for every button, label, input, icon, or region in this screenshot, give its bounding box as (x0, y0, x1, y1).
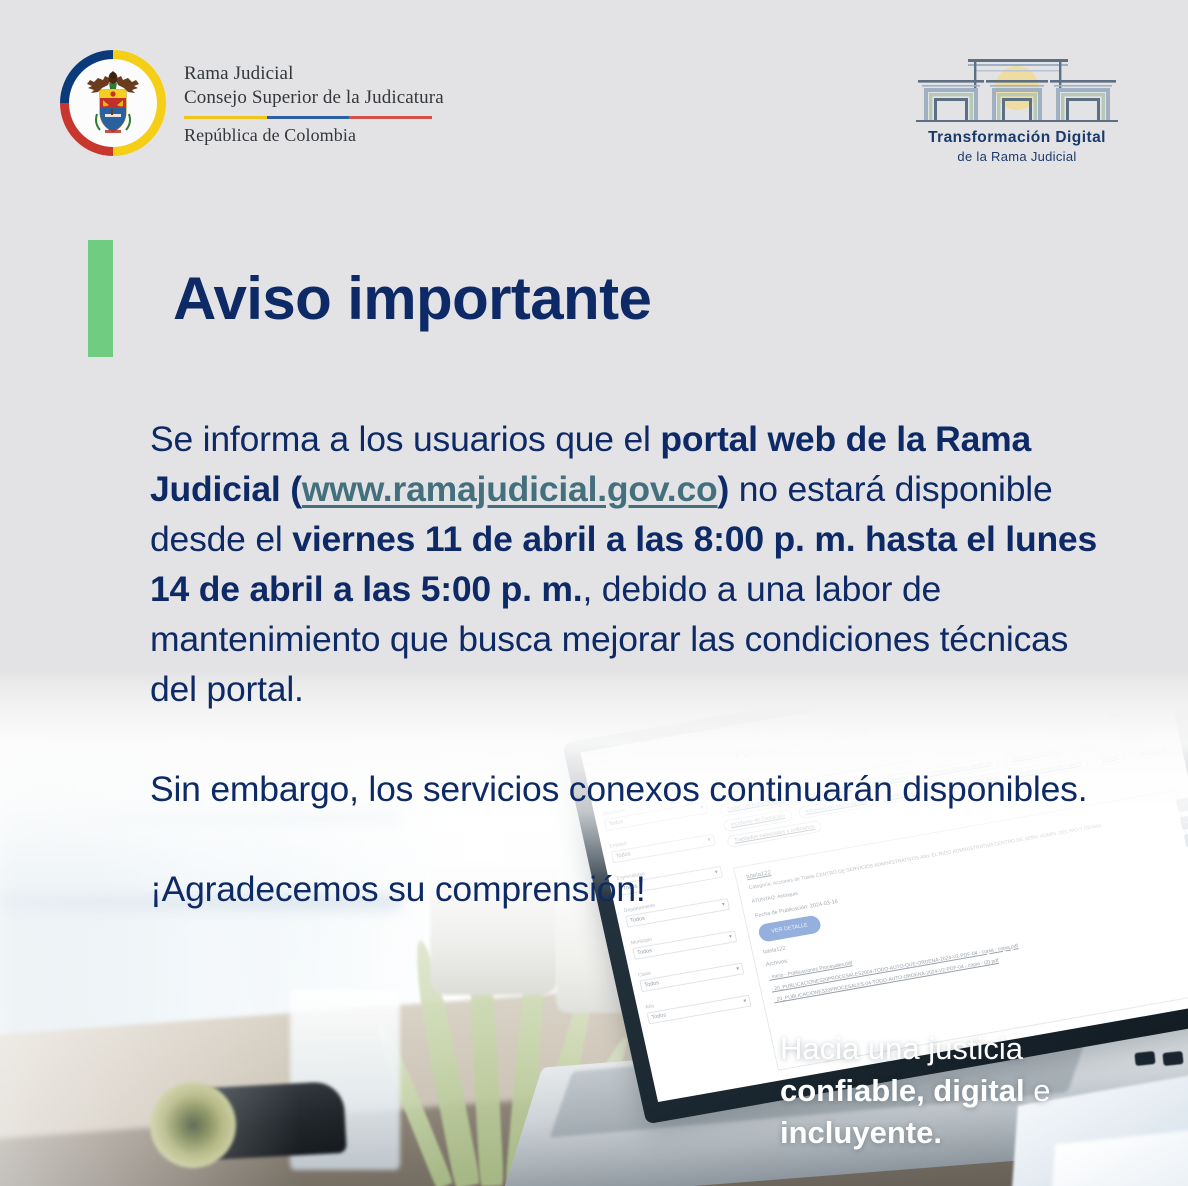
courthouse-building-icon (910, 48, 1124, 128)
brand-line-2: Consejo Superior de la Judicatura (184, 86, 444, 110)
tagline: Hacia una justicia confiable, digital e … (780, 1028, 1100, 1154)
td-line-2: de la Rama Judicial (910, 149, 1124, 164)
rama-judicial-wordmark: Rama Judicial Consejo Superior de la Jud… (184, 60, 444, 146)
screen-filter[interactable]: MunicipioTodos▾ (630, 922, 737, 960)
transformacion-digital-logo: Transformación Digital de la Rama Judici… (910, 48, 1124, 164)
paragraph-3: ¡Agradecemos su comprensión! (150, 864, 1110, 914)
tagline-line-3: incluyente. (780, 1112, 1100, 1154)
paragraph-1: Se informa a los usuarios que el portal … (150, 414, 1110, 714)
p1-bold-2: ) (717, 469, 729, 509)
aviso-card: Publicaciones Procesales BUSCAR Despacho… (0, 0, 1188, 1186)
tagline-line-2: confiable, digital e (780, 1070, 1100, 1112)
brand-line-3: República de Colombia (184, 125, 444, 146)
page-title: Aviso importante (173, 264, 651, 333)
td-line-1: Transformación Digital (910, 129, 1124, 147)
tagline-line-1: Hacia una justicia (780, 1028, 1100, 1070)
tagline-rest: e (1025, 1073, 1051, 1108)
screen-detail-button[interactable]: VER DETALLE (757, 914, 822, 942)
colombia-coat-of-arms-roundel-icon (60, 50, 166, 156)
paragraph-2: Sin embargo, los servicios conexos conti… (150, 764, 1110, 814)
body-copy: Se informa a los usuarios que el portal … (150, 414, 1110, 914)
ramajudicial-link[interactable]: www.ramajudicial.gov.co (302, 469, 718, 509)
coat-of-arms-icon (78, 66, 148, 140)
headline-block: Aviso importante (88, 240, 651, 357)
screen-filter[interactable]: ClaseTodos▾ (638, 955, 745, 993)
brand-line-1: Rama Judicial (184, 62, 444, 86)
screen-tag[interactable]: Sentencias (1131, 742, 1174, 761)
screen-toolbar-button[interactable]: + (1176, 797, 1188, 812)
screen-filter[interactable]: AñoTodos▾ (645, 987, 752, 1025)
headline-accent-bar (88, 240, 113, 357)
p1-part-1: Se informa a los usuarios que el (150, 419, 660, 459)
header: Rama Judicial Consejo Superior de la Jud… (0, 0, 1188, 180)
tagline-bold-1: confiable, digital (780, 1073, 1025, 1108)
tricolor-rule (184, 116, 432, 120)
tagline-bold-2: incluyente. (780, 1115, 942, 1150)
rama-judicial-logo: Rama Judicial Consejo Superior de la Jud… (60, 50, 444, 156)
